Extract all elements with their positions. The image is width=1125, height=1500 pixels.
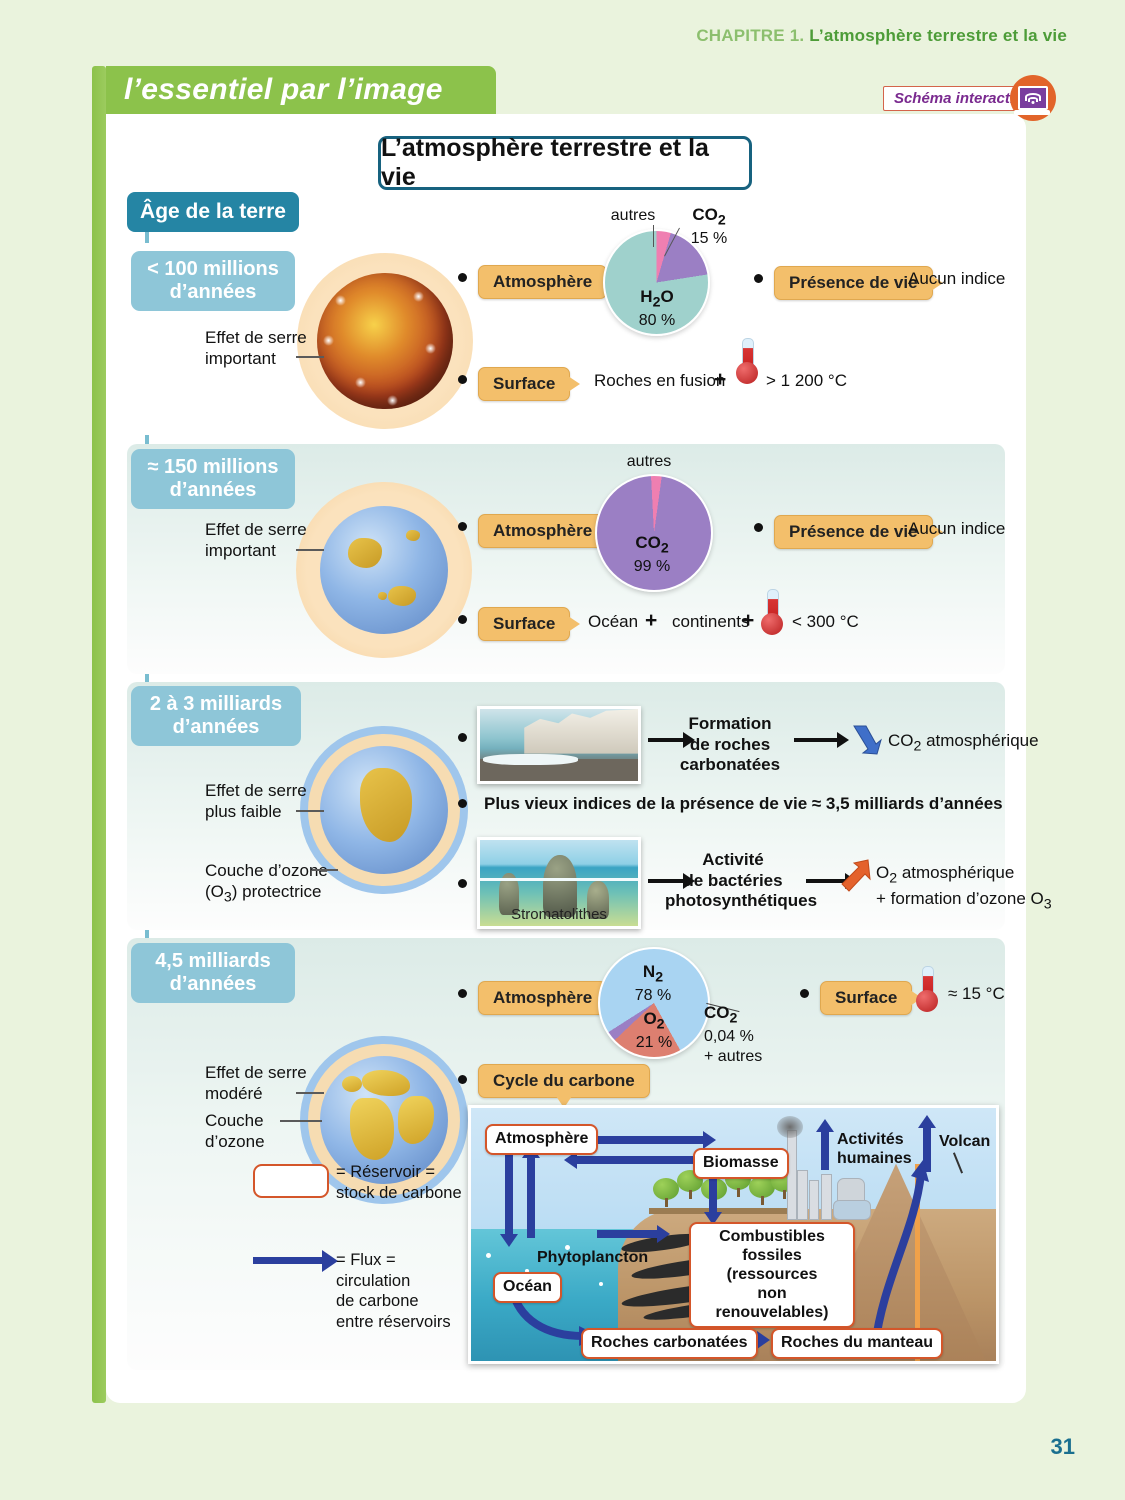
node-atmosphere[interactable]: Atmosphère (485, 1124, 598, 1155)
flow-arrow (794, 738, 838, 742)
pill-atmosphere-1[interactable]: Atmosphère (478, 265, 607, 299)
leader-line (296, 356, 324, 358)
co2-down-arrow-icon (848, 722, 882, 756)
pie-label-autres-2: autres (612, 452, 686, 471)
carbon-cycle-diagram: Atmosphère Biomasse Océan Combustibles f… (468, 1105, 999, 1364)
surface-value-1: Roches en fusion (594, 371, 725, 391)
label-volcan: Volcan (939, 1132, 990, 1151)
planet-magma-icon (317, 273, 453, 409)
temperature-1: > 1 200 °C (766, 371, 847, 391)
thermometer-icon-1 (740, 340, 754, 384)
planet-note-4b: Couched’ozone (205, 1110, 265, 1153)
flux-arrow-ocean-surface (591, 1154, 655, 1240)
life-value-2: Aucun indice (908, 519, 1005, 539)
photo-caption-stromatolithes: Stromatolithes (480, 906, 638, 923)
oldest-life-text: Plus vieux indices de la présence de vie… (484, 794, 1003, 814)
node-ocean[interactable]: Océan (493, 1272, 562, 1303)
flux-arrow-activites-humaines (821, 1130, 829, 1170)
node-combustibles-fossiles[interactable]: Combustibles fossiles(ressourcesnon reno… (689, 1222, 855, 1328)
leader-line (296, 1092, 324, 1094)
plus-sign: + (742, 609, 754, 633)
pill-surface-1[interactable]: Surface (478, 367, 570, 401)
bullet (458, 375, 467, 384)
pie-label-n2: N278 % (617, 962, 689, 1006)
pie-label-autres-1: autres (598, 206, 668, 225)
node-biomasse[interactable]: Biomasse (693, 1148, 789, 1179)
planet-ocean-icon (320, 506, 448, 634)
essentiel-tab: l’essentiel par l’image (106, 66, 496, 114)
pill-atmosphere-4[interactable]: Atmosphère (478, 981, 607, 1015)
legend-flux-text: = Flux =circulationde carboneentre réser… (336, 1250, 451, 1333)
result-text-3a: CO2 atmosphérique (888, 731, 1039, 754)
node-roches-du-manteau[interactable]: Roches du manteau (771, 1328, 943, 1359)
label-phytoplancton: Phytoplancton (537, 1248, 648, 1267)
bullet (754, 523, 763, 532)
left-green-bar (92, 66, 106, 1403)
chapter-header: CHAPITRE 1. L’atmosphère terrestre et la… (696, 26, 1067, 46)
result-text-3b: O2 atmosphérique+ formation d’ozone O3 (876, 862, 1052, 914)
falaises-craie-photo (477, 706, 641, 784)
bullet (458, 879, 467, 888)
leader-line (653, 225, 654, 247)
bullet (754, 274, 763, 283)
life-value-1: Aucun indice (908, 269, 1005, 289)
pill-surface-4[interactable]: Surface (820, 981, 912, 1015)
chapter-prefix: CHAPITRE 1. (696, 26, 804, 45)
bullet (458, 273, 467, 282)
laptop-wifi-icon[interactable] (1010, 75, 1056, 121)
legend-reservoir-text: = Réservoir =stock de carbone (336, 1162, 462, 1203)
step-text-3a: Formationde rochescarbonatées (672, 714, 788, 776)
pill-surface-2[interactable]: Surface (478, 607, 570, 641)
planet-note-1: Effet de serreimportant (205, 327, 307, 370)
pie-label-o2: O221 % (626, 1009, 682, 1053)
bullet (458, 733, 467, 742)
leader-line (296, 810, 324, 812)
bullet (800, 989, 809, 998)
surface-value-2b: continents (672, 612, 750, 632)
textbook-page: CHAPITRE 1. L’atmosphère terrestre et la… (0, 0, 1125, 1500)
label-activites-humaines: Activitéshumaines (837, 1130, 912, 1168)
page-title: L’atmosphère terrestre et la vie (378, 136, 752, 190)
temperature-2: < 300 °C (792, 612, 859, 632)
planet-note-4a: Effet de serremodéré (205, 1062, 307, 1105)
bullet (458, 615, 467, 624)
bullet (458, 989, 467, 998)
flux-arrow-ocean-to-atm (527, 1156, 535, 1238)
pie-label-co2-1: CO215 % (672, 205, 746, 249)
planet-continent-icon (320, 746, 448, 874)
legend-reservoir-swatch (253, 1164, 329, 1198)
bullet (458, 1075, 467, 1084)
thermometer-icon-2 (765, 591, 779, 635)
surface-value-2a: Océan (588, 612, 638, 632)
leader-line (280, 1120, 322, 1122)
era-tag-2to3gy: 2 à 3 milliardsd’années (131, 686, 301, 746)
pie-label-co2-4: CO20,04 %+ autres (704, 1003, 796, 1066)
legend-flux-swatch (253, 1257, 323, 1264)
thermometer-icon-4 (920, 966, 934, 1012)
era-tag-150my: ≈ 150 millionsd’années (131, 449, 295, 509)
flux-arrow-atm-to-ocean (505, 1152, 513, 1236)
flux-arrow-manteau-to-atm (863, 1160, 943, 1350)
temperature-4: ≈ 15 °C (948, 984, 1005, 1004)
step-text-3b: Activitéde bactériesphotosynthétiques (665, 850, 801, 912)
plus-sign: + (714, 368, 726, 392)
era-tag-lt100my: < 100 millionsd’années (131, 251, 295, 311)
leader-line (312, 869, 338, 871)
o2-up-arrow-icon (838, 858, 872, 892)
pill-cycle-du-carbone[interactable]: Cycle du carbone (478, 1064, 650, 1098)
node-roches-carbonatees[interactable]: Roches carbonatées (581, 1328, 758, 1359)
page-number: 31 (1051, 1434, 1075, 1460)
pie-label-h2o-1: H2O80 % (620, 287, 694, 331)
planet-note-2: Effet de serreimportant (205, 519, 307, 562)
bullet (458, 522, 467, 531)
pill-atmosphere-2[interactable]: Atmosphère (478, 514, 607, 548)
plus-sign: + (645, 609, 657, 633)
leader-line (296, 549, 324, 551)
stromatolithes-photo: Stromatolithes (477, 837, 641, 929)
planet-note-3b: Couche d’ozone(O3) protectrice (205, 860, 328, 907)
chapter-title: L’atmosphère terrestre et la vie (809, 26, 1067, 45)
schema-interactif-badge[interactable]: Schéma interactif (883, 82, 1050, 114)
era-tag-45gy: 4,5 milliardsd’années (131, 943, 295, 1003)
pie-label-co2-2: CO299 % (615, 533, 689, 577)
bullet (458, 799, 467, 808)
age-de-la-terre-label: Âge de la terre (127, 192, 299, 232)
planet-note-3a: Effet de serreplus faible (205, 780, 307, 823)
essentiel-tab-label: l’essentiel par l’image (124, 73, 443, 107)
